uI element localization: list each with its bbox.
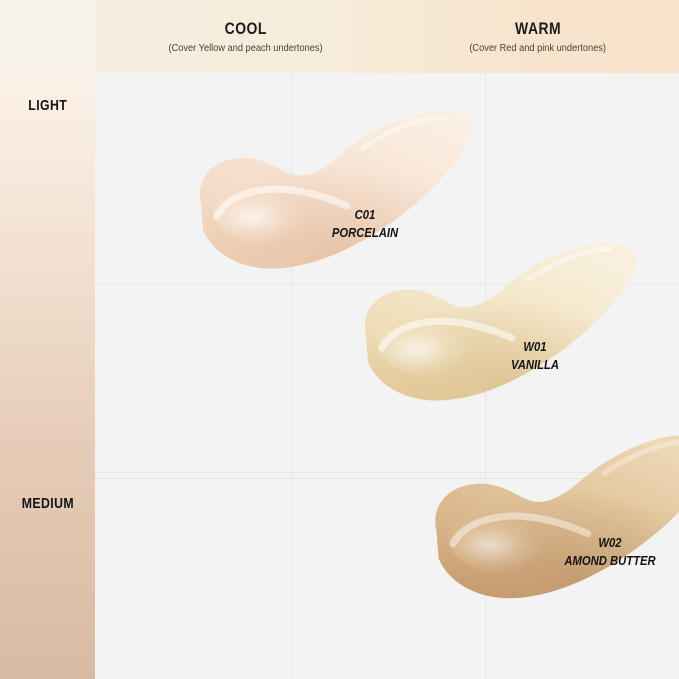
undertone-title-cool: COOL bbox=[225, 19, 267, 39]
depth-label-light-text: LIGHT bbox=[28, 97, 67, 114]
undertone-title-warm: WARM bbox=[515, 19, 561, 39]
undertone-subtitle-cool: (Cover Yellow and peach undertones) bbox=[169, 42, 323, 54]
foundation-shade-chart: COOL (Cover Yellow and peach undertones)… bbox=[0, 0, 679, 679]
depth-label-medium: MEDIUM bbox=[0, 495, 95, 512]
swatch-plot-area: C01 PORCELAIN bbox=[95, 73, 679, 679]
swatch-w02-amond-butter[interactable]: W02 AMOND BUTTER bbox=[422, 430, 679, 605]
undertone-subtitle-warm: (Cover Red and pink undertones) bbox=[470, 42, 607, 54]
undertone-column-warm: WARM (Cover Red and pink undertones) bbox=[397, 0, 679, 73]
swatch-blob-w01 bbox=[352, 240, 642, 405]
depth-label-light: LIGHT bbox=[0, 97, 95, 114]
depth-sidebar bbox=[0, 73, 95, 679]
swatch-blob-w02 bbox=[422, 430, 679, 605]
depth-label-medium-text: MEDIUM bbox=[21, 495, 73, 512]
undertone-column-cool: COOL (Cover Yellow and peach undertones) bbox=[95, 0, 397, 73]
header-corner bbox=[0, 0, 95, 73]
swatch-w01-vanilla[interactable]: W01 VANILLA bbox=[352, 240, 642, 405]
